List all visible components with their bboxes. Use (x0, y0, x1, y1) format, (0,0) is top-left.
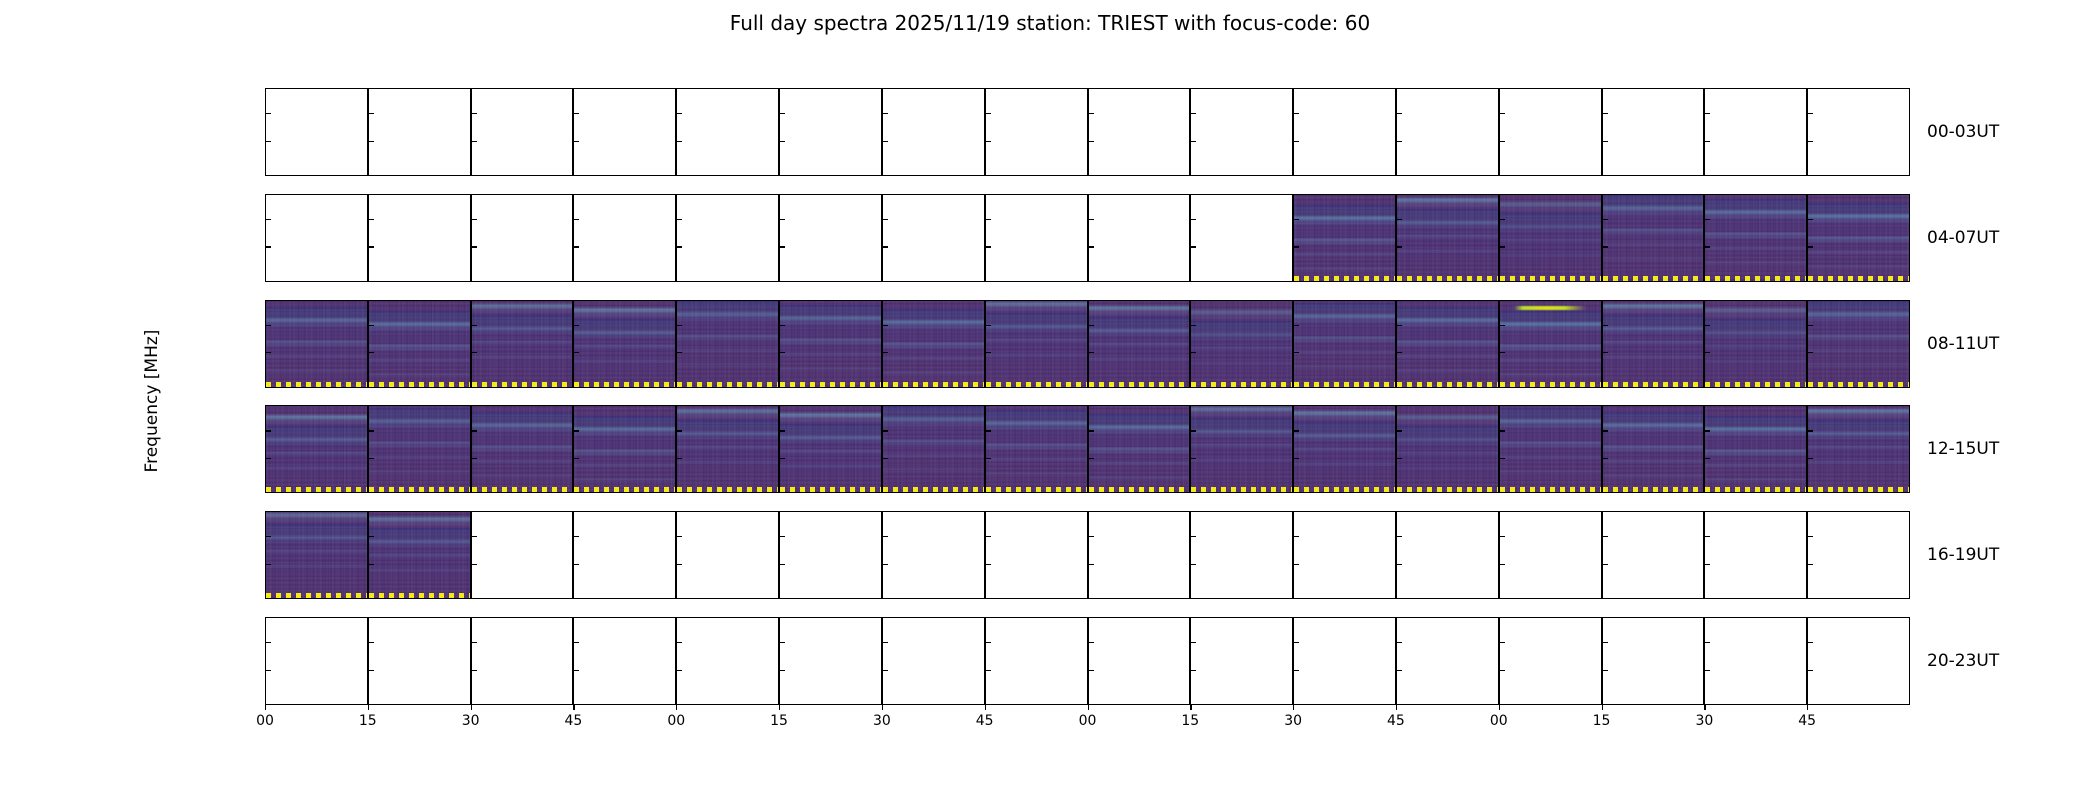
spectrogram-texture-layer (1294, 406, 1395, 492)
spectrogram-panel[interactable] (985, 617, 1088, 705)
y-tick-mark (1397, 219, 1402, 220)
y-tick-mark (1191, 141, 1196, 142)
spectrogram-texture-layer (883, 301, 984, 387)
spectrogram-panel[interactable] (1807, 88, 1910, 176)
y-tick-mark (1603, 430, 1608, 431)
x-tick-label: 15 (359, 713, 377, 729)
spectrogram-panel[interactable] (573, 88, 676, 176)
data-marker-strip (986, 487, 1087, 492)
y-tick-mark (1808, 642, 1813, 643)
spectrogram-panel[interactable] (1293, 617, 1396, 705)
y-tick-mark (883, 430, 888, 431)
y-tick-mark (1500, 325, 1505, 326)
spectrogram-panel[interactable] (985, 88, 1088, 176)
panel-row-04-07ut: 15001250 (265, 194, 1910, 282)
y-tick-mark (883, 458, 888, 459)
spectrogram-panel[interactable] (676, 194, 779, 282)
y-tick-mark (780, 670, 785, 671)
y-tick-mark (1808, 141, 1813, 142)
spectrogram-panel[interactable] (676, 617, 779, 705)
y-tick-mark (369, 670, 374, 671)
y-tick-mark (1808, 564, 1813, 565)
spectrogram-panel[interactable] (676, 511, 779, 599)
y-tick-mark (1808, 325, 1813, 326)
spectrogram-panel[interactable] (882, 88, 985, 176)
y-tick-mark (472, 352, 477, 353)
spectrogram-panel[interactable] (779, 194, 882, 282)
y-tick-mark (677, 430, 682, 431)
spectrogram-panel[interactable] (1293, 511, 1396, 599)
y-tick-mark (986, 642, 991, 643)
spectrogram-panel[interactable] (1704, 405, 1807, 493)
x-tick-mark (1704, 705, 1705, 710)
spectrogram-texture-layer (986, 301, 1087, 387)
y-tick-mark (1397, 352, 1402, 353)
spectrogram-panel[interactable] (882, 300, 985, 388)
y-tick-mark (1294, 642, 1299, 643)
y-tick-mark (677, 141, 682, 142)
spectrogram-panel[interactable] (1396, 511, 1499, 599)
spectrogram-panel[interactable] (1088, 617, 1191, 705)
spectrogram-panel[interactable] (1190, 300, 1293, 388)
spectrogram-panel[interactable] (1602, 300, 1705, 388)
spectrogram-panel[interactable] (1088, 300, 1191, 388)
x-tick-label: 30 (1695, 713, 1713, 729)
spectrogram-panel[interactable] (985, 194, 1088, 282)
spectrogram-panel[interactable] (1293, 194, 1396, 282)
spectrogram-texture-layer (780, 301, 881, 387)
y-tick-mark (1294, 670, 1299, 671)
spectrogram-panel[interactable] (882, 405, 985, 493)
spectrogram-texture-layer (1705, 301, 1806, 387)
spectrogram-texture-layer (1603, 195, 1704, 281)
y-tick-mark (677, 246, 682, 247)
y-tick-mark (574, 642, 579, 643)
spectrogram-panel[interactable] (779, 300, 882, 388)
spectrogram-texture-layer (369, 301, 470, 387)
spectrogram-panel[interactable] (1704, 511, 1807, 599)
y-tick-mark (266, 352, 271, 353)
y-tick-mark (369, 113, 374, 114)
y-tick-mark (780, 458, 785, 459)
spectrogram-panel[interactable] (1602, 194, 1705, 282)
spectrogram-panel[interactable] (779, 405, 882, 493)
spectrogram-panel[interactable] (1293, 88, 1396, 176)
spectrogram-panel[interactable] (1190, 617, 1293, 705)
x-tick-label: 45 (1798, 713, 1816, 729)
data-marker-strip (1089, 382, 1190, 387)
y-tick-mark (1705, 458, 1710, 459)
spectrogram-texture-layer (1397, 406, 1498, 492)
data-marker-strip (1808, 276, 1909, 281)
spectrogram-panel[interactable] (1499, 405, 1602, 493)
data-marker-strip (266, 382, 367, 387)
y-tick-mark (677, 113, 682, 114)
y-tick-mark (1500, 536, 1505, 537)
y-tick-mark (1603, 113, 1608, 114)
spectrogram-panel[interactable] (1499, 617, 1602, 705)
spectrogram-panel[interactable] (573, 405, 676, 493)
spectrogram-texture-layer (266, 512, 367, 598)
row-time-label: 04-07UT (1927, 228, 1999, 248)
spectrogram-panel[interactable] (882, 194, 985, 282)
y-tick-mark (266, 642, 271, 643)
spectrogram-panel[interactable] (1396, 88, 1499, 176)
y-tick-mark (986, 536, 991, 537)
spectrogram-panel[interactable] (1602, 88, 1705, 176)
y-tick-mark (574, 536, 579, 537)
y-tick-mark (1089, 325, 1094, 326)
y-tick-mark (1191, 246, 1196, 247)
spectrogram-texture-layer (1397, 301, 1498, 387)
spectrogram-panel[interactable] (573, 194, 676, 282)
spectrogram-panel[interactable] (1396, 194, 1499, 282)
y-tick-mark (1603, 352, 1608, 353)
y-tick-mark (266, 246, 271, 247)
panel-row-20-23ut: 15001250 (265, 617, 1910, 705)
spectrogram-texture-layer (1294, 301, 1395, 387)
x-tick-label: 00 (1490, 713, 1508, 729)
spectrogram-texture-layer (1705, 406, 1806, 492)
y-tick-mark (1191, 430, 1196, 431)
y-tick-mark (1603, 141, 1608, 142)
spectrogram-texture-layer (1808, 195, 1909, 281)
y-tick-mark (1294, 352, 1299, 353)
y-tick-labels: 15001250 (265, 512, 266, 598)
figure-canvas: Full day spectra 2025/11/19 station: TRI… (0, 0, 2100, 800)
y-tick-mark (883, 642, 888, 643)
y-tick-mark (574, 670, 579, 671)
y-tick-mark (1705, 352, 1710, 353)
spectrogram-texture-layer (1089, 301, 1190, 387)
data-marker-strip (1705, 487, 1806, 492)
y-tick-mark (1500, 113, 1505, 114)
spectrogram-panel[interactable] (1602, 617, 1705, 705)
spectrogram-texture-layer (1191, 406, 1292, 492)
data-marker-strip (1397, 487, 1498, 492)
spectrogram-panel[interactable] (1602, 405, 1705, 493)
data-marker-strip (1603, 382, 1704, 387)
spectrogram-panel[interactable] (368, 300, 471, 388)
x-tick-mark (985, 705, 986, 710)
data-marker-strip (1294, 276, 1395, 281)
spectrogram-texture-layer (677, 301, 778, 387)
y-tick-mark (1397, 536, 1402, 537)
x-tick-label: 45 (976, 713, 994, 729)
spectrogram-panel[interactable] (573, 511, 676, 599)
spectrogram-panel[interactable] (471, 194, 574, 282)
y-tick-mark (1294, 564, 1299, 565)
spectrogram-panel[interactable] (1807, 300, 1910, 388)
spectrogram-texture-layer (472, 301, 573, 387)
data-marker-strip (986, 382, 1087, 387)
spectrogram-panel[interactable]: 15001250 (265, 617, 368, 705)
y-tick-mark (369, 430, 374, 431)
y-tick-mark (1089, 113, 1094, 114)
y-tick-mark (1397, 113, 1402, 114)
y-tick-mark (1500, 458, 1505, 459)
spectrogram-panel[interactable] (676, 300, 779, 388)
spectrogram-panel[interactable] (1602, 511, 1705, 599)
spectrogram-panel[interactable] (1088, 194, 1191, 282)
data-marker-strip (780, 382, 881, 387)
spectrogram-panel[interactable] (882, 617, 985, 705)
spectrogram-panel[interactable]: 15001250 (265, 511, 368, 599)
spectrogram-panel[interactable] (1807, 194, 1910, 282)
spectrogram-panel[interactable] (1499, 88, 1602, 176)
spectrogram-panel[interactable] (779, 617, 882, 705)
y-tick-mark (677, 670, 682, 671)
spectrogram-texture-layer (883, 406, 984, 492)
x-tick-mark (1807, 705, 1808, 710)
data-marker-strip (1500, 487, 1601, 492)
spectrogram-panel[interactable] (1396, 617, 1499, 705)
y-tick-mark (1500, 642, 1505, 643)
spectrogram-panel[interactable] (471, 405, 574, 493)
data-marker-strip (266, 487, 367, 492)
y-tick-mark (1191, 113, 1196, 114)
spectrogram-panel[interactable] (985, 300, 1088, 388)
spectrogram-texture-layer (780, 406, 881, 492)
y-tick-mark (1500, 352, 1505, 353)
spectrogram-panel[interactable] (1190, 194, 1293, 282)
y-tick-mark (986, 352, 991, 353)
data-marker-strip (1397, 382, 1498, 387)
spectrogram-texture-layer (1808, 406, 1909, 492)
spectrogram-texture-layer (266, 406, 367, 492)
data-marker-strip (780, 487, 881, 492)
data-marker-strip (1808, 382, 1909, 387)
panel-row-08-11ut: 15001250 (265, 300, 1910, 388)
spectrogram-panel[interactable] (1190, 88, 1293, 176)
spectrogram-panel[interactable] (779, 88, 882, 176)
row-time-label: 20-23UT (1927, 651, 1999, 671)
y-tick-mark (780, 642, 785, 643)
spectrogram-panel[interactable] (882, 511, 985, 599)
y-tick-mark (472, 564, 477, 565)
y-tick-mark (266, 141, 271, 142)
data-marker-strip (1397, 276, 1498, 281)
y-tick-mark (986, 246, 991, 247)
y-tick-mark (574, 430, 579, 431)
y-tick-mark (574, 246, 579, 247)
spectrogram-panel[interactable] (1088, 88, 1191, 176)
spectrogram-panel[interactable] (1190, 511, 1293, 599)
y-tick-mark (1294, 246, 1299, 247)
x-tick-mark (1396, 705, 1397, 710)
data-marker-strip (369, 382, 470, 387)
y-tick-mark (1191, 642, 1196, 643)
y-tick-mark (1603, 536, 1608, 537)
spectrogram-panel[interactable] (471, 511, 574, 599)
spectrogram-panel[interactable] (1807, 405, 1910, 493)
spectrogram-texture-layer (266, 301, 367, 387)
spectrogram-panel[interactable] (1293, 300, 1396, 388)
spectrogram-panel[interactable] (471, 88, 574, 176)
figure-title: Full day spectra 2025/11/19 station: TRI… (0, 11, 2100, 35)
y-tick-mark (780, 325, 785, 326)
spectrogram-panel[interactable] (1396, 300, 1499, 388)
data-marker-strip (369, 593, 470, 598)
y-tick-mark (677, 642, 682, 643)
spectrogram-texture-layer (1500, 301, 1601, 387)
y-tick-mark (780, 564, 785, 565)
y-tick-mark (1500, 246, 1505, 247)
x-tick-label: 45 (565, 713, 583, 729)
spectrogram-panel[interactable] (1088, 405, 1191, 493)
spectrogram-panel[interactable] (1704, 88, 1807, 176)
y-tick-mark (1089, 219, 1094, 220)
y-tick-mark (1808, 670, 1813, 671)
data-marker-strip (1191, 382, 1292, 387)
y-tick-mark (1294, 536, 1299, 537)
spectrogram-texture-layer (369, 512, 470, 598)
spectrogram-panel[interactable]: 15001250 (265, 194, 368, 282)
data-marker-strip (883, 487, 984, 492)
x-tick-label: 15 (770, 713, 788, 729)
y-tick-labels: 15001250 (265, 618, 266, 704)
y-tick-mark (1089, 564, 1094, 565)
row-time-label: 00-03UT (1927, 122, 1999, 142)
y-tick-mark (1808, 113, 1813, 114)
spectrogram-panel[interactable] (368, 194, 471, 282)
y-tick-mark (1089, 246, 1094, 247)
x-tick-mark (1293, 705, 1294, 710)
spectrogram-panel[interactable] (985, 405, 1088, 493)
y-axis-title: Frequency [MHz] (142, 330, 162, 473)
spectrogram-panel[interactable] (1704, 617, 1807, 705)
y-tick-mark (677, 325, 682, 326)
y-tick-mark (1808, 219, 1813, 220)
spectrogram-panel[interactable] (1499, 194, 1602, 282)
y-tick-labels: 15001250 (265, 406, 266, 492)
spectrogram-panel[interactable] (368, 511, 471, 599)
y-tick-mark (1603, 246, 1608, 247)
y-tick-mark (986, 325, 991, 326)
data-marker-strip (1705, 276, 1806, 281)
y-tick-mark (780, 219, 785, 220)
x-tick-label: 30 (462, 713, 480, 729)
x-tick-label: 15 (1593, 713, 1611, 729)
data-marker-strip (472, 487, 573, 492)
spectrogram-panel[interactable] (1499, 511, 1602, 599)
x-tick-mark (1088, 705, 1089, 710)
spectrogram-panel[interactable] (368, 88, 471, 176)
spectrogram-panel[interactable] (985, 511, 1088, 599)
y-tick-mark (1500, 141, 1505, 142)
data-marker-strip (1294, 487, 1395, 492)
y-tick-mark (677, 458, 682, 459)
y-tick-mark (1397, 246, 1402, 247)
data-marker-strip (1089, 487, 1190, 492)
y-tick-mark (1294, 141, 1299, 142)
data-marker-strip (1500, 382, 1601, 387)
y-tick-mark (1294, 113, 1299, 114)
spectrogram-panel[interactable] (1088, 511, 1191, 599)
spectrogram-panel[interactable] (1190, 405, 1293, 493)
spectrogram-panel[interactable] (471, 617, 574, 705)
y-tick-mark (1808, 246, 1813, 247)
spectrogram-texture-layer (1500, 406, 1601, 492)
row-time-label: 16-19UT (1927, 545, 1999, 565)
spectrogram-texture-layer (369, 406, 470, 492)
spectrogram-texture-layer (1294, 195, 1395, 281)
y-tick-mark (883, 325, 888, 326)
spectrogram-panel[interactable] (368, 617, 471, 705)
y-tick-mark (1808, 430, 1813, 431)
panel-row-16-19ut: 15001250 (265, 511, 1910, 599)
y-tick-mark (1500, 670, 1505, 671)
y-tick-mark (677, 352, 682, 353)
spectrogram-panel[interactable] (779, 511, 882, 599)
y-tick-mark (266, 564, 271, 565)
y-tick-labels: 15001250 (265, 195, 266, 281)
spectrogram-texture-layer (1191, 301, 1292, 387)
spectrogram-panel[interactable]: 15001250 (265, 88, 368, 176)
y-tick-mark (986, 141, 991, 142)
spectrogram-panel[interactable] (1807, 511, 1910, 599)
y-tick-mark (1089, 141, 1094, 142)
spectrogram-texture-layer (1808, 301, 1909, 387)
spectrogram-panel[interactable] (1293, 405, 1396, 493)
spectrogram-panel[interactable] (573, 300, 676, 388)
data-marker-strip (677, 487, 778, 492)
spectrogram-panel[interactable] (1499, 300, 1602, 388)
x-tick-mark (779, 705, 780, 710)
y-tick-mark (1705, 113, 1710, 114)
data-marker-strip (883, 382, 984, 387)
x-tick-label: 00 (667, 713, 685, 729)
y-tick-mark (1705, 642, 1710, 643)
spectrogram-panel[interactable] (676, 88, 779, 176)
y-tick-mark (1808, 352, 1813, 353)
spectrogram-panel[interactable] (471, 300, 574, 388)
y-tick-mark (1089, 458, 1094, 459)
y-tick-mark (1603, 325, 1608, 326)
y-tick-mark (472, 536, 477, 537)
spectrogram-panel[interactable] (1396, 405, 1499, 493)
y-tick-mark (1500, 564, 1505, 565)
spectrogram-panel[interactable] (676, 405, 779, 493)
row-time-label: 12-15UT (1927, 439, 1999, 459)
x-tick-mark (1602, 705, 1603, 710)
spectrogram-panel[interactable] (573, 617, 676, 705)
y-tick-mark (574, 458, 579, 459)
y-tick-mark (1603, 219, 1608, 220)
spectrogram-panel[interactable] (368, 405, 471, 493)
spectrogram-panel[interactable] (1704, 194, 1807, 282)
y-tick-mark (574, 219, 579, 220)
y-tick-mark (883, 246, 888, 247)
y-tick-mark (472, 113, 477, 114)
spectrogram-panel[interactable] (1807, 617, 1910, 705)
y-tick-mark (986, 219, 991, 220)
data-marker-strip (1191, 487, 1292, 492)
y-tick-mark (1500, 219, 1505, 220)
y-tick-mark (883, 141, 888, 142)
y-tick-mark (1603, 670, 1608, 671)
y-tick-mark (883, 352, 888, 353)
x-tick-label: 00 (1079, 713, 1097, 729)
spectrogram-panel[interactable]: 15001250 (265, 405, 368, 493)
spectrogram-panel[interactable] (1704, 300, 1807, 388)
y-tick-mark (1191, 670, 1196, 671)
y-tick-mark (266, 458, 271, 459)
y-tick-mark (1603, 642, 1608, 643)
data-marker-strip (1705, 382, 1806, 387)
y-tick-mark (780, 352, 785, 353)
spectrogram-panel[interactable]: 15001250 (265, 300, 368, 388)
